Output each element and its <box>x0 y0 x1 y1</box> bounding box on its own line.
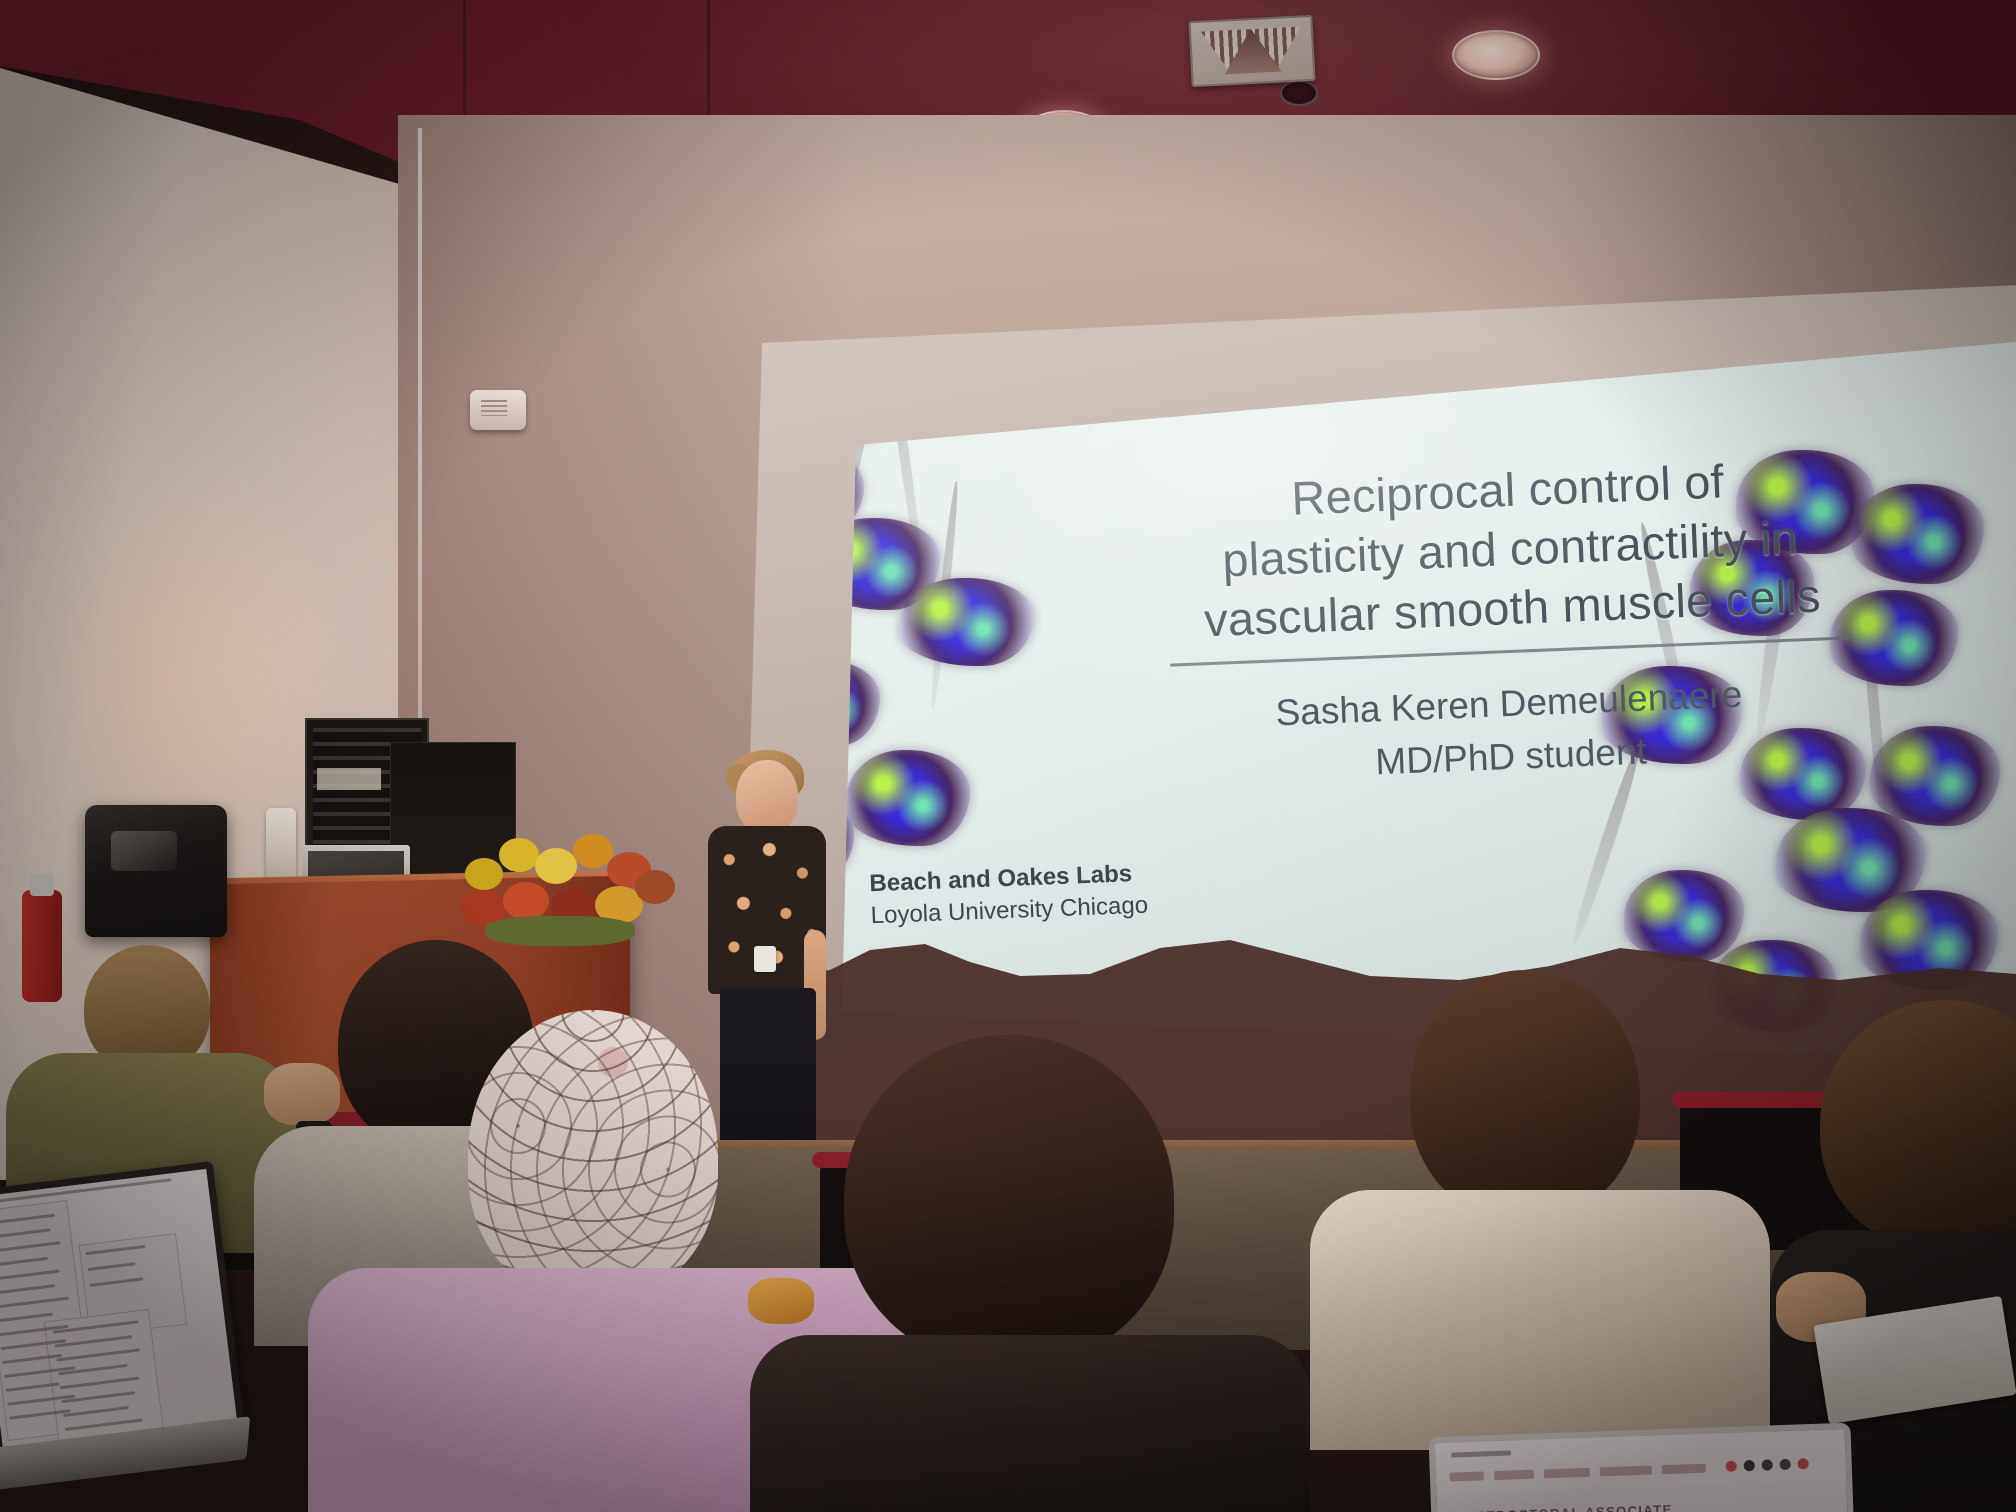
smoke-detector-icon <box>470 390 526 430</box>
browser-url-text <box>1451 1450 1511 1457</box>
paper-towel-dispenser <box>85 805 227 937</box>
recessed-downlight-icon <box>1452 30 1540 80</box>
laptop-right-screen[interactable]: POSTDOCTORAL ASSOCIATE <box>1429 1423 1854 1512</box>
bookmark-item[interactable] <box>1450 1471 1484 1481</box>
bookmark-item[interactable] <box>1544 1468 1590 1479</box>
flower-arrangement <box>455 830 695 950</box>
flower-petal <box>573 834 613 868</box>
rack-label <box>317 768 381 790</box>
lecture-hall-photo: Reciprocal control of plasticity and con… <box>0 0 2016 1512</box>
wall-phone-icon <box>266 808 296 880</box>
audience-shoulders <box>750 1335 1310 1512</box>
audience-shoulders <box>1310 1190 1770 1450</box>
flower-petal <box>499 838 539 872</box>
presenter-badge <box>754 946 776 972</box>
audience-member <box>760 1035 1300 1512</box>
audience-head <box>1820 1000 2016 1250</box>
laptop-right[interactable]: POSTDOCTORAL ASSOCIATE <box>1429 1423 1852 1512</box>
flower-petal <box>503 882 549 920</box>
laptop-left-screen[interactable] <box>0 1161 245 1461</box>
flower-petal <box>465 858 503 890</box>
flower-petal <box>535 848 577 884</box>
bookmark-item[interactable] <box>1662 1464 1706 1475</box>
audience-member <box>1340 970 1760 1430</box>
audience-headscarf <box>468 1010 718 1300</box>
bookmark-item[interactable] <box>1600 1466 1652 1477</box>
slide-title: Reciprocal control of plasticity and con… <box>1127 445 1894 653</box>
recessed-downlight-off-icon <box>1280 80 1318 106</box>
audience-head <box>1410 970 1640 1220</box>
flower-petal <box>635 870 675 904</box>
presenter-head <box>736 760 798 834</box>
bookmark-item[interactable] <box>1494 1470 1534 1480</box>
page-heading-text: POSTDOCTORAL ASSOCIATE <box>1455 1502 1673 1512</box>
laptop-left[interactable] <box>0 1161 254 1512</box>
hvac-vent-icon <box>1188 15 1315 87</box>
audience-head <box>844 1035 1174 1365</box>
